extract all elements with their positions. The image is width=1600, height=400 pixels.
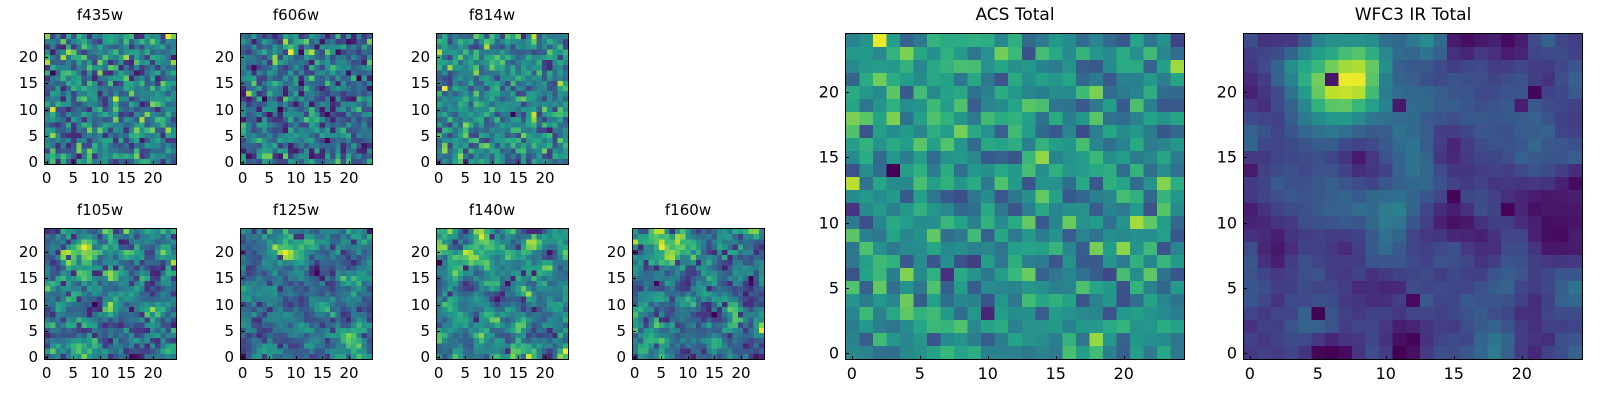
x-tick-mark — [988, 356, 989, 360]
y-tick-mark — [44, 83, 48, 84]
panel-f160w: f160w0510152005101520 — [0, 0, 1600, 400]
panel-acs-total: ACS Total0510152005101520 — [0, 0, 1600, 400]
x-tick-label: 0 — [1245, 364, 1255, 383]
x-tick-label: 0 — [238, 364, 248, 382]
y-tick-mark — [632, 278, 636, 279]
heatmap-canvas-f125w — [241, 229, 372, 359]
x-tick-mark — [1454, 356, 1455, 360]
x-tick-mark — [465, 356, 466, 360]
panel-wfc3-ir-total: WFC3 IR Total0510152005101520 — [0, 0, 1600, 400]
heatmap-canvas-f105w — [45, 229, 176, 359]
y-tick-label: 5 — [4, 127, 38, 145]
y-tick-mark — [436, 331, 440, 332]
panel-f606w: f606w0510152005101520 — [0, 0, 1600, 400]
y-tick-label: 0 — [592, 348, 626, 366]
x-tick-mark — [153, 356, 154, 360]
x-tick-mark — [545, 356, 546, 360]
y-tick-label: 15 — [396, 269, 430, 287]
y-tick-label: 0 — [396, 153, 430, 171]
heatmap-f160w — [632, 228, 765, 360]
x-tick-mark — [688, 356, 689, 360]
heatmap-acs-total — [845, 33, 1185, 360]
y-tick-mark — [845, 353, 849, 354]
x-tick-mark — [1124, 356, 1125, 360]
y-tick-label: 15 — [200, 269, 234, 287]
y-tick-mark — [240, 278, 244, 279]
x-tick-mark — [741, 356, 742, 360]
y-tick-mark — [436, 252, 440, 253]
y-tick-mark — [1243, 288, 1247, 289]
panel-f814w: f814w0510152005101520 — [0, 0, 1600, 400]
x-tick-label: 5 — [915, 364, 925, 383]
y-tick-label: 10 — [4, 296, 38, 314]
heatmap-f606w — [240, 33, 373, 165]
x-tick-label: 10 — [286, 364, 305, 382]
y-tick-label: 10 — [4, 101, 38, 119]
y-tick-mark — [240, 57, 244, 58]
y-tick-label: 10 — [200, 101, 234, 119]
y-tick-mark — [1243, 92, 1247, 93]
y-tick-mark — [240, 110, 244, 111]
y-tick-mark — [44, 357, 48, 358]
y-tick-label: 10 — [1203, 213, 1237, 232]
x-tick-mark — [465, 161, 466, 165]
x-tick-label: 20 — [1512, 364, 1532, 383]
panel-title-wfc3-ir-total: WFC3 IR Total — [1243, 5, 1583, 25]
panel-title-f814w: f814w — [392, 6, 592, 24]
x-tick-mark — [153, 161, 154, 165]
x-tick-label: 0 — [630, 364, 640, 382]
x-tick-label: 0 — [434, 169, 444, 187]
y-tick-mark — [240, 83, 244, 84]
y-tick-label: 5 — [805, 279, 839, 298]
panel-title-f140w: f140w — [392, 201, 592, 219]
panel-title-f435w: f435w — [0, 6, 200, 24]
y-tick-label: 10 — [592, 296, 626, 314]
x-tick-label: 10 — [90, 364, 109, 382]
x-tick-mark — [322, 161, 323, 165]
x-tick-mark — [1056, 356, 1057, 360]
x-tick-label: 20 — [1114, 364, 1134, 383]
panel-f140w: f140w0510152005101520 — [0, 0, 1600, 400]
x-tick-mark — [349, 161, 350, 165]
x-tick-mark — [1318, 356, 1319, 360]
y-tick-label: 20 — [396, 243, 430, 261]
heatmap-f140w — [436, 228, 569, 360]
y-tick-label: 5 — [396, 127, 430, 145]
y-tick-label: 10 — [396, 296, 430, 314]
y-tick-label: 0 — [200, 348, 234, 366]
x-tick-mark — [47, 161, 48, 165]
heatmap-wfc3-ir-total — [1243, 33, 1583, 360]
x-tick-mark — [439, 356, 440, 360]
y-tick-label: 20 — [4, 48, 38, 66]
y-tick-label: 15 — [805, 148, 839, 167]
x-tick-label: 20 — [536, 169, 555, 187]
y-tick-mark — [44, 57, 48, 58]
x-tick-mark — [47, 356, 48, 360]
x-tick-mark — [322, 356, 323, 360]
x-tick-mark — [635, 356, 636, 360]
y-tick-label: 0 — [1203, 344, 1237, 363]
x-tick-label: 5 — [1313, 364, 1323, 383]
y-tick-mark — [436, 83, 440, 84]
y-tick-mark — [240, 162, 244, 163]
y-tick-label: 5 — [1203, 279, 1237, 298]
y-tick-mark — [632, 331, 636, 332]
y-tick-label: 20 — [1203, 82, 1237, 101]
x-tick-label: 10 — [678, 364, 697, 382]
y-tick-label: 0 — [4, 153, 38, 171]
panel-title-f105w: f105w — [0, 201, 200, 219]
y-tick-label: 20 — [200, 48, 234, 66]
x-tick-mark — [269, 161, 270, 165]
y-tick-mark — [436, 278, 440, 279]
x-tick-mark — [1250, 356, 1251, 360]
x-tick-mark — [852, 356, 853, 360]
x-tick-label: 10 — [978, 364, 998, 383]
x-tick-label: 10 — [286, 169, 305, 187]
y-tick-mark — [240, 252, 244, 253]
heatmap-canvas-wfc3-ir-total — [1244, 34, 1582, 359]
y-tick-label: 15 — [396, 74, 430, 92]
y-tick-label: 5 — [396, 322, 430, 340]
y-tick-label: 0 — [805, 344, 839, 363]
x-tick-mark — [439, 161, 440, 165]
x-tick-label: 15 — [117, 169, 136, 187]
x-tick-mark — [100, 161, 101, 165]
x-tick-mark — [492, 356, 493, 360]
y-tick-mark — [44, 136, 48, 137]
y-tick-mark — [436, 110, 440, 111]
y-tick-mark — [1243, 223, 1247, 224]
x-tick-mark — [545, 161, 546, 165]
y-tick-mark — [436, 136, 440, 137]
y-tick-mark — [1243, 157, 1247, 158]
y-tick-mark — [44, 305, 48, 306]
y-tick-mark — [436, 357, 440, 358]
x-tick-mark — [73, 356, 74, 360]
x-tick-mark — [492, 161, 493, 165]
y-tick-mark — [44, 278, 48, 279]
x-tick-label: 15 — [313, 364, 332, 382]
x-tick-label: 5 — [68, 364, 78, 382]
x-tick-mark — [518, 356, 519, 360]
y-tick-mark — [632, 252, 636, 253]
x-tick-label: 20 — [340, 364, 359, 382]
x-tick-label: 5 — [264, 364, 274, 382]
x-tick-mark — [296, 161, 297, 165]
x-tick-label: 15 — [1046, 364, 1066, 383]
x-tick-label: 15 — [705, 364, 724, 382]
heatmap-canvas-f435w — [45, 34, 176, 164]
y-tick-label: 5 — [200, 127, 234, 145]
y-tick-mark — [44, 252, 48, 253]
y-tick-mark — [632, 305, 636, 306]
x-tick-label: 0 — [238, 169, 248, 187]
x-tick-label: 5 — [656, 364, 666, 382]
panel-f105w: f105w0510152005101520 — [0, 0, 1600, 400]
x-tick-mark — [269, 356, 270, 360]
heatmap-canvas-f160w — [633, 229, 764, 359]
y-tick-label: 10 — [200, 296, 234, 314]
y-tick-label: 0 — [4, 348, 38, 366]
y-tick-mark — [44, 331, 48, 332]
y-tick-mark — [240, 357, 244, 358]
x-tick-mark — [243, 356, 244, 360]
y-tick-mark — [44, 162, 48, 163]
heatmap-f105w — [44, 228, 177, 360]
y-tick-label: 20 — [4, 243, 38, 261]
heatmap-canvas-acs-total — [846, 34, 1184, 359]
y-tick-mark — [436, 162, 440, 163]
x-tick-label: 15 — [509, 169, 528, 187]
y-tick-label: 15 — [592, 269, 626, 287]
y-tick-label: 20 — [592, 243, 626, 261]
y-tick-mark — [240, 305, 244, 306]
y-tick-mark — [845, 92, 849, 93]
heatmap-f125w — [240, 228, 373, 360]
y-tick-label: 10 — [805, 213, 839, 232]
x-tick-mark — [1386, 356, 1387, 360]
heatmap-f435w — [44, 33, 177, 165]
y-tick-mark — [240, 331, 244, 332]
x-tick-label: 15 — [313, 169, 332, 187]
y-tick-mark — [436, 57, 440, 58]
y-tick-label: 5 — [4, 322, 38, 340]
y-tick-mark — [436, 305, 440, 306]
x-tick-mark — [126, 356, 127, 360]
heatmap-canvas-f606w — [241, 34, 372, 164]
x-tick-label: 20 — [144, 169, 163, 187]
y-tick-label: 5 — [592, 322, 626, 340]
x-tick-mark — [243, 161, 244, 165]
panel-f435w: f435w0510152005101520 — [0, 0, 1600, 400]
y-tick-label: 15 — [4, 74, 38, 92]
x-tick-label: 0 — [434, 364, 444, 382]
x-tick-label: 0 — [42, 169, 52, 187]
y-tick-mark — [240, 136, 244, 137]
heatmap-canvas-f140w — [437, 229, 568, 359]
x-tick-label: 15 — [1444, 364, 1464, 383]
y-tick-mark — [632, 357, 636, 358]
x-tick-label: 20 — [536, 364, 555, 382]
y-tick-label: 15 — [200, 74, 234, 92]
figure-canvas: f435w0510152005101520f606w05101520051015… — [0, 0, 1600, 400]
x-tick-label: 5 — [460, 364, 470, 382]
y-tick-mark — [845, 157, 849, 158]
x-tick-label: 10 — [482, 364, 501, 382]
x-tick-mark — [73, 161, 74, 165]
x-tick-mark — [714, 356, 715, 360]
x-tick-label: 15 — [509, 364, 528, 382]
y-tick-label: 20 — [805, 82, 839, 101]
x-tick-label: 20 — [340, 169, 359, 187]
panel-title-f606w: f606w — [196, 6, 396, 24]
heatmap-canvas-f814w — [437, 34, 568, 164]
x-tick-label: 20 — [144, 364, 163, 382]
x-tick-label: 10 — [1376, 364, 1396, 383]
x-tick-label: 10 — [90, 169, 109, 187]
y-tick-mark — [845, 288, 849, 289]
y-tick-label: 5 — [200, 322, 234, 340]
x-tick-mark — [349, 356, 350, 360]
x-tick-mark — [1522, 356, 1523, 360]
y-tick-mark — [1243, 353, 1247, 354]
x-tick-mark — [920, 356, 921, 360]
y-tick-label: 15 — [4, 269, 38, 287]
x-tick-label: 5 — [264, 169, 274, 187]
x-tick-mark — [126, 161, 127, 165]
y-tick-label: 15 — [1203, 148, 1237, 167]
x-tick-mark — [518, 161, 519, 165]
x-tick-label: 5 — [68, 169, 78, 187]
y-tick-label: 0 — [396, 348, 430, 366]
x-tick-label: 10 — [482, 169, 501, 187]
y-tick-mark — [845, 223, 849, 224]
x-tick-label: 0 — [847, 364, 857, 383]
x-tick-mark — [100, 356, 101, 360]
heatmap-f814w — [436, 33, 569, 165]
x-tick-mark — [661, 356, 662, 360]
y-tick-label: 20 — [396, 48, 430, 66]
x-tick-label: 5 — [460, 169, 470, 187]
x-tick-label: 15 — [117, 364, 136, 382]
y-tick-label: 20 — [200, 243, 234, 261]
panel-title-f160w: f160w — [588, 201, 788, 219]
y-tick-mark — [44, 110, 48, 111]
y-tick-label: 0 — [200, 153, 234, 171]
x-tick-label: 0 — [42, 364, 52, 382]
panel-f125w: f125w0510152005101520 — [0, 0, 1600, 400]
panel-title-f125w: f125w — [196, 201, 396, 219]
x-tick-label: 20 — [732, 364, 751, 382]
y-tick-label: 10 — [396, 101, 430, 119]
panel-title-acs-total: ACS Total — [845, 5, 1185, 25]
x-tick-mark — [296, 356, 297, 360]
